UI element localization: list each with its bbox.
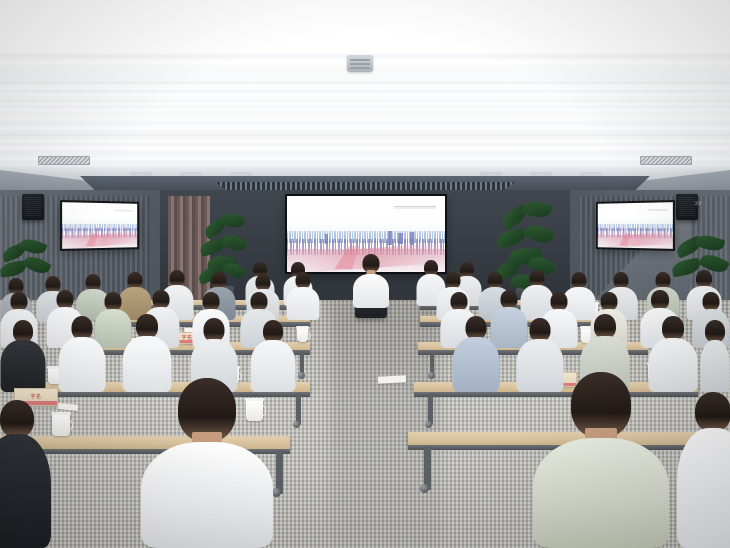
table-caster xyxy=(425,421,432,428)
conference-room-photo: 3F xyxy=(0,0,730,548)
attendee-body xyxy=(59,337,106,392)
plant-leaf xyxy=(22,253,52,278)
attendee-nearest-right xyxy=(532,372,670,548)
attendee-head xyxy=(651,290,669,310)
right-screen-cityscape-image xyxy=(598,202,673,249)
attendee-body xyxy=(353,274,389,308)
wall-speaker-left-icon xyxy=(22,194,44,220)
table-caster xyxy=(293,421,300,428)
table-caster xyxy=(298,372,305,379)
plant-leaf xyxy=(523,221,555,247)
ceiling-air-vent-left-icon xyxy=(38,156,90,165)
ceiling-slot-1 xyxy=(130,172,152,176)
attendee-head xyxy=(0,400,34,438)
attendee-r4-10 xyxy=(700,320,730,392)
table-caster xyxy=(428,372,435,379)
city-tower-4 xyxy=(325,234,328,244)
attendee-body xyxy=(141,442,273,548)
city-watermark xyxy=(114,208,133,212)
ceiling-light-strip-5 xyxy=(0,140,730,149)
attendee-body xyxy=(287,287,320,320)
ceiling-seam-2 xyxy=(0,100,730,102)
attendee-nearest-far-right xyxy=(676,392,730,548)
attendee-head xyxy=(695,392,730,432)
tea-mug xyxy=(52,414,70,436)
attendee-body xyxy=(677,428,730,548)
mug-lid xyxy=(51,412,71,415)
left-led-screen[interactable] xyxy=(62,202,137,249)
city-tower-3 xyxy=(410,232,414,245)
plant-leaf xyxy=(496,227,527,248)
ceiling-projector-mount-icon xyxy=(347,55,373,72)
attendee-body xyxy=(701,340,730,392)
ceiling-light-strip-3 xyxy=(0,104,730,110)
plant-leaf xyxy=(695,232,726,254)
attendee-front-centre xyxy=(352,254,390,306)
plant-leaf xyxy=(220,231,248,254)
city-watermark xyxy=(648,207,668,211)
city-tower-1 xyxy=(388,231,392,245)
document xyxy=(378,375,406,383)
room-floor-sign: 3F xyxy=(686,197,712,211)
left-screen-cityscape-image xyxy=(62,202,137,249)
city-tower-2 xyxy=(398,233,403,244)
attendee-r4-2 xyxy=(58,316,106,392)
centre-aisle xyxy=(330,300,440,548)
tea-mug xyxy=(297,328,308,342)
ceiling-air-vent-right-icon xyxy=(640,156,692,165)
city-sky xyxy=(287,196,445,236)
attendee-body xyxy=(453,337,500,392)
ceiling xyxy=(0,0,730,190)
ceiling-light-strip-2 xyxy=(0,88,730,95)
attendee-r4-6 xyxy=(452,316,500,392)
attendee-body xyxy=(533,438,669,548)
ceiling-slot-4 xyxy=(480,172,502,176)
attendee-body xyxy=(0,434,51,548)
attendee-nearest-far-left xyxy=(0,400,52,548)
ceiling-slot-2 xyxy=(180,172,202,176)
ceiling-slot-3 xyxy=(230,172,252,176)
mug-lid xyxy=(296,326,309,329)
attendee-r2-5 xyxy=(286,272,320,320)
plant-leaf xyxy=(521,198,552,220)
ceiling-seam-1 xyxy=(0,82,730,84)
attendee-r4-1 xyxy=(0,320,46,392)
ceiling-slot-5 xyxy=(530,172,552,176)
name-card-text: 字名 xyxy=(30,395,41,400)
attendee-body xyxy=(1,340,46,392)
right-led-screen[interactable] xyxy=(598,202,673,249)
ceiling-light-strip-4 xyxy=(0,118,730,129)
ceiling-seam-3 xyxy=(0,134,730,136)
ceiling-slot-6 xyxy=(580,172,602,176)
attendee-nearest-left xyxy=(140,378,274,548)
table-caster xyxy=(420,484,429,493)
city-watermark xyxy=(394,204,435,211)
